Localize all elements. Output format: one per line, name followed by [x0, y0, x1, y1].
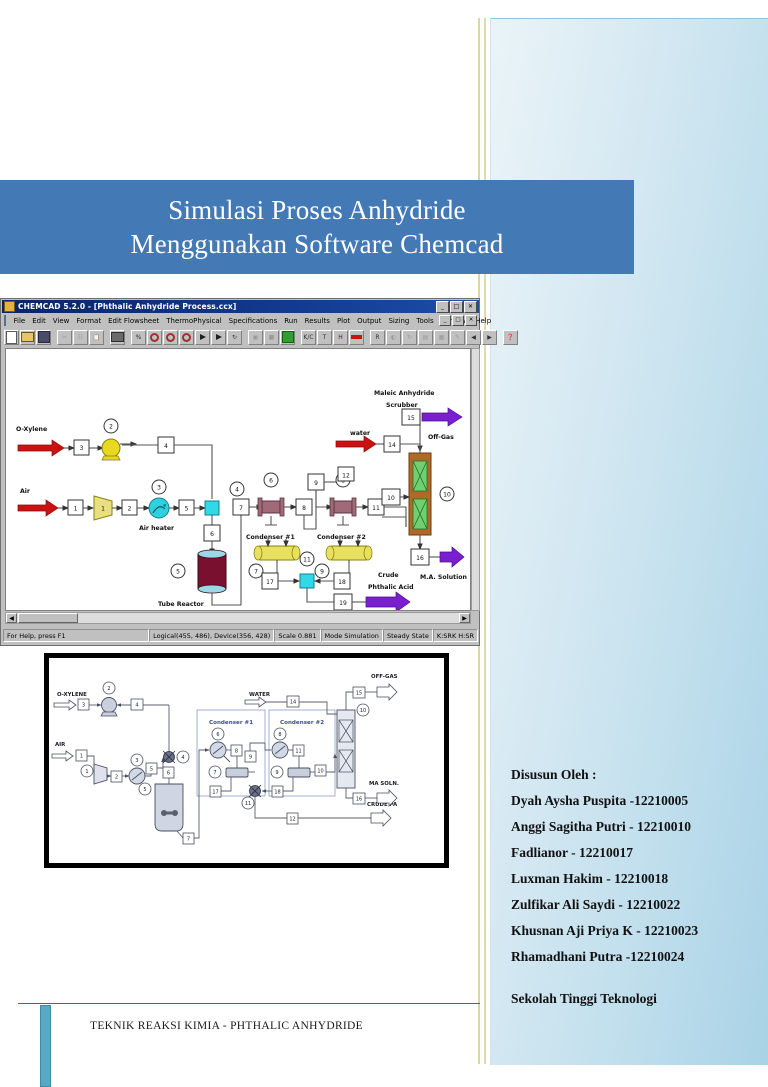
author-name-7: Rhamadhani Putra -12210024 — [511, 944, 761, 970]
mdi-control-buttons[interactable]: _ □ ✕ — [439, 315, 477, 326]
label-block-condenser-1: Condenser #1 — [209, 720, 253, 726]
block-unit-accumulator-9[interactable] — [288, 768, 310, 777]
svg-text:11: 11 — [303, 557, 311, 564]
menu-item-edit[interactable]: Edit — [29, 317, 50, 325]
svg-text:15: 15 — [407, 415, 415, 422]
svg-text:14: 14 — [388, 442, 396, 449]
block-unit-accumulator-7[interactable] — [226, 768, 248, 777]
svg-text:4: 4 — [235, 487, 239, 494]
svg-text:5: 5 — [150, 767, 153, 773]
svg-text:16: 16 — [356, 797, 362, 803]
status-thermo: K:SRK H:SR — [433, 629, 478, 642]
open-file-icon[interactable] — [20, 330, 35, 345]
grid-icon: ▦ — [434, 330, 449, 345]
svg-text:2: 2 — [107, 686, 110, 692]
menu-item-view[interactable]: View — [49, 317, 73, 325]
zoom-percent-icon[interactable]: % — [131, 330, 146, 345]
copy-icon: ☷ — [73, 330, 88, 345]
run-simulation-icon[interactable] — [280, 330, 295, 345]
label-ma-solution: M.A. Solution — [420, 574, 467, 581]
cut-icon: ✂ — [57, 330, 72, 345]
label-crude-1: Crude — [378, 572, 399, 579]
block-unit-reactor-5[interactable] — [155, 784, 183, 831]
product-arrow-crude-phthalic-acid — [366, 592, 410, 611]
report-icon[interactable]: R — [370, 330, 385, 345]
status-state: Steady State — [383, 629, 433, 642]
unit-mixer-11[interactable] — [300, 574, 314, 588]
page-title-banner: Simulasi Proses Anhydride Menggunakan So… — [0, 180, 634, 274]
svg-text:14: 14 — [290, 700, 296, 706]
unit-accumulator-7[interactable] — [254, 546, 300, 560]
block-unit-compressor-1[interactable] — [94, 764, 107, 784]
feed-arrow-air — [18, 500, 58, 516]
feed-arrow-o-xylene — [18, 440, 64, 456]
svg-text:9: 9 — [249, 755, 252, 761]
institution-name: Sekolah Tinggi Teknologi — [511, 986, 761, 1012]
pan-pointer-icon[interactable] — [211, 330, 226, 345]
svg-text:9: 9 — [320, 569, 324, 576]
save-file-icon[interactable] — [36, 330, 51, 345]
footer-divider-line — [18, 1003, 480, 1004]
feed-arrow-water — [336, 436, 376, 452]
svg-text:4: 4 — [181, 755, 184, 761]
svg-text:4: 4 — [164, 443, 168, 450]
menu-item-output[interactable]: Output — [354, 317, 385, 325]
window-titlebar[interactable]: CHEMCAD 5.2.0 - [Phthalic Anhydride Proc… — [2, 300, 479, 313]
paste-icon: 📋 — [89, 330, 104, 345]
block-unit-mixer-11[interactable] — [249, 785, 261, 797]
scroll-right-icon[interactable]: ▶ — [459, 613, 470, 623]
svg-text:6: 6 — [269, 478, 273, 485]
unit-tube-reactor-5[interactable] — [198, 550, 226, 593]
block-unit-pump-2[interactable] — [101, 698, 117, 717]
unit-pump-2[interactable] — [102, 439, 120, 460]
svg-text:7: 7 — [213, 770, 216, 776]
process-block-diagram: .bl{stroke:#5a5f70;stroke-width:0.9;fill… — [44, 653, 449, 868]
svg-text:11: 11 — [372, 505, 380, 512]
block-unit-condenser-8[interactable] — [272, 742, 288, 758]
status-help: For Help, press F1 — [3, 629, 149, 642]
document-icon — [4, 315, 6, 326]
authors-gap — [511, 970, 761, 986]
statusbar: For Help, press F1 Logical(455, 486), De… — [2, 627, 479, 644]
svg-text:3: 3 — [135, 758, 138, 764]
menu-item-thermophysical[interactable]: ThermoPhysical — [163, 317, 225, 325]
table-icon: ▤ — [418, 330, 433, 345]
label-scrubber-2: Scrubber — [386, 402, 419, 409]
vertical-scrollbar[interactable] — [471, 348, 480, 611]
help-cursor-icon[interactable]: ❓ — [503, 330, 518, 345]
svg-text:7: 7 — [187, 837, 190, 843]
label-tube-reactor: Tube Reactor — [158, 601, 205, 608]
unit-accumulator-9[interactable] — [326, 546, 372, 560]
toolbar[interactable]: ✂ ☷ 📋 % ↻ ▣ ■ K/C T H R ◐ ↻ ▤ ▦ ✎ ◀ ▶ ❓ — [2, 328, 479, 346]
authors-heading: Disusun Oleh : — [511, 762, 761, 788]
enthalpy-icon[interactable]: H — [333, 330, 348, 345]
menu-item-format[interactable]: Format — [73, 317, 105, 325]
close-icon[interactable]: ✕ — [464, 301, 477, 313]
footer-text: TEKNIK REAKSI KIMIA - PHTHALIC ANHYDRIDE — [90, 1020, 363, 1032]
svg-text:12: 12 — [342, 473, 350, 480]
svg-text:10: 10 — [387, 495, 395, 502]
status-mode: Mode Simulation — [321, 629, 383, 642]
svg-text:5: 5 — [185, 506, 189, 513]
unit-mixer-4[interactable] — [205, 501, 219, 515]
zoom-in-icon[interactable] — [147, 330, 162, 345]
label-block-condenser-2: Condenser #2 — [280, 720, 324, 726]
decorative-edge-line-inner — [484, 18, 486, 1064]
svg-text:17: 17 — [266, 579, 274, 586]
maximize-icon[interactable]: □ — [450, 301, 463, 313]
print-icon[interactable] — [110, 330, 125, 345]
block-unit-air-heater-3[interactable] — [129, 768, 145, 784]
authors-block: Disusun Oleh : Dyah Aysha Puspita -12210… — [511, 762, 761, 1012]
select-region-icon: ▣ — [248, 330, 263, 345]
group-icon: ■ — [264, 330, 279, 345]
temperature-icon[interactable]: T — [317, 330, 332, 345]
menu-item-tools[interactable]: Tools — [413, 317, 437, 325]
mdi-close-icon[interactable]: ✕ — [465, 315, 477, 326]
page-title-line-1: Simulasi Proses Anhydride — [168, 193, 466, 227]
product-arrow-block-off-gas — [377, 684, 397, 700]
label-air: Air — [20, 488, 31, 495]
svg-text:7: 7 — [239, 505, 243, 512]
product-arrow-ma-solution — [440, 547, 464, 567]
feed-arrow-block-air — [52, 751, 73, 761]
svg-text:2: 2 — [109, 424, 113, 431]
note-icon: ✎ — [450, 330, 465, 345]
flowsheet-canvas[interactable]: .ln{stroke:#555;stroke-width:1.1;fill:no… — [5, 348, 471, 611]
svg-text:19: 19 — [339, 600, 347, 607]
unit-kc-icon[interactable]: K/C — [301, 330, 316, 345]
svg-text:7: 7 — [254, 569, 258, 576]
flowsheet-drawing: .ln{stroke:#555;stroke-width:1.1;fill:no… — [6, 349, 471, 611]
label-crude-2: Phthalic Acid — [368, 584, 414, 591]
unit-scrubber-10[interactable] — [409, 453, 431, 535]
feed-arrow-block-water — [245, 697, 266, 707]
select-pointer-icon[interactable] — [195, 330, 210, 345]
window-title-text: CHEMCAD 5.2.0 - [Phthalic Anhydride Proc… — [18, 302, 236, 311]
author-name-2: Anggi Sagitha Putri - 12210010 — [511, 814, 761, 840]
label-block-water: WATER — [249, 692, 271, 698]
status-scale: Scale 0.881 — [274, 629, 320, 642]
svg-text:17: 17 — [212, 790, 218, 796]
label-condenser-1: Condenser #1 — [246, 534, 295, 541]
svg-text:1: 1 — [74, 506, 78, 513]
author-name-5: Zulfikar Ali Saydi - 12210022 — [511, 892, 761, 918]
menu-item-results[interactable]: Results — [301, 317, 333, 325]
svg-text:18: 18 — [274, 790, 280, 796]
block-unit-condenser-6[interactable] — [210, 742, 230, 762]
menu-item-sizing[interactable]: Sizing — [385, 317, 413, 325]
svg-text:4: 4 — [135, 703, 138, 709]
author-name-3: Fadlianor - 12210017 — [511, 840, 761, 866]
svg-text:5: 5 — [143, 787, 146, 793]
svg-text:8: 8 — [235, 749, 238, 755]
minimize-icon[interactable]: _ — [436, 301, 449, 313]
scroll-left-icon[interactable]: ◀ — [6, 613, 17, 623]
mdi-restore-icon[interactable]: □ — [452, 315, 464, 326]
svg-text:11: 11 — [295, 749, 301, 755]
unit-condenser-2[interactable] — [330, 498, 356, 525]
label-block-off-gas: OFF-GAS — [371, 674, 398, 680]
svg-text:2: 2 — [115, 775, 118, 781]
menubar[interactable]: File Edit View Format Edit Flowsheet The… — [2, 314, 479, 327]
svg-text:3: 3 — [80, 445, 84, 452]
feed-arrow-block-o-xylene — [54, 700, 76, 710]
svg-text:15: 15 — [356, 691, 362, 697]
svg-text:6: 6 — [167, 771, 170, 777]
svg-text:9: 9 — [275, 770, 278, 776]
label-scrubber-1: Maleic Anhydride — [374, 390, 434, 397]
window-control-buttons[interactable]: _ □ ✕ — [436, 301, 477, 313]
stream-arrow-icon[interactable] — [349, 330, 364, 345]
svg-text:10: 10 — [317, 769, 323, 775]
svg-text:10: 10 — [443, 492, 451, 499]
svg-text:3: 3 — [157, 485, 161, 492]
label-water: water — [350, 430, 371, 437]
zoom-out-icon[interactable] — [163, 330, 178, 345]
pie-chart-icon: ◐ — [386, 330, 401, 345]
svg-text:1: 1 — [101, 506, 105, 513]
author-name-6: Khusnan Aji Priya K - 12210023 — [511, 918, 761, 944]
footer-accent-bar — [40, 1005, 51, 1087]
svg-text:1: 1 — [80, 754, 83, 760]
menu-item-specifications[interactable]: Specifications — [225, 317, 281, 325]
svg-text:8: 8 — [302, 505, 306, 512]
label-off-gas: Off-Gas — [428, 434, 454, 441]
svg-text:9: 9 — [314, 480, 318, 487]
menu-item-edit-flowsheet[interactable]: Edit Flowsheet — [105, 317, 163, 325]
new-file-icon[interactable] — [4, 330, 19, 345]
status-coordinates: Logical(455, 486), Device(356, 428) — [149, 629, 274, 642]
author-name-1: Dyah Aysha Puspita -12210005 — [511, 788, 761, 814]
label-block-ma-soln: MA SOLN. — [369, 781, 399, 787]
block-unit-mixer-4[interactable] — [163, 751, 175, 763]
scroll-thumb[interactable] — [18, 613, 78, 623]
svg-text:2: 2 — [128, 506, 132, 513]
svg-text:10: 10 — [360, 708, 366, 714]
next-unit-icon[interactable]: ▶ — [482, 330, 497, 345]
unit-condenser-1[interactable] — [258, 498, 284, 525]
svg-text:5: 5 — [176, 569, 180, 576]
svg-text:6: 6 — [210, 531, 214, 538]
page-title-line-2: Menggunakan Software Chemcad — [131, 227, 504, 261]
label-air-heater: Air heater — [139, 525, 175, 532]
label-o-xylene: O-Xylene — [16, 426, 47, 433]
svg-text:8: 8 — [278, 732, 281, 738]
history-icon: ↻ — [402, 330, 417, 345]
svg-text:3: 3 — [82, 703, 85, 709]
svg-text:1: 1 — [85, 769, 88, 775]
svg-text:12: 12 — [289, 817, 295, 823]
redraw-icon[interactable]: ↻ — [227, 330, 242, 345]
prev-unit-icon[interactable]: ◀ — [466, 330, 481, 345]
svg-text:18: 18 — [338, 579, 346, 586]
chemcad-flask-icon — [4, 301, 15, 312]
svg-text:16: 16 — [416, 555, 424, 562]
unit-air-heater-3[interactable] — [149, 498, 169, 518]
author-name-4: Luxman Hakim - 12210018 — [511, 866, 761, 892]
mdi-minimize-icon[interactable]: _ — [439, 315, 451, 326]
product-arrow-off-gas — [422, 408, 462, 426]
svg-text:11: 11 — [245, 801, 251, 807]
label-block-o-xylene: O-XYLENE — [57, 692, 87, 698]
block-diagram-drawing: .bl{stroke:#5a5f70;stroke-width:0.9;fill… — [49, 658, 444, 863]
horizontal-scrollbar[interactable]: ◀ ▶ — [5, 612, 471, 624]
chemcad-application-window: CHEMCAD 5.2.0 - [Phthalic Anhydride Proc… — [0, 298, 480, 646]
label-block-air: AIR — [55, 742, 66, 748]
svg-text:6: 6 — [216, 732, 219, 738]
menu-item-run[interactable]: Run — [281, 317, 301, 325]
menu-item-file[interactable]: File — [10, 317, 29, 325]
product-arrow-block-crude-pa — [371, 810, 391, 826]
block-unit-scrubber-10[interactable] — [337, 710, 355, 788]
menu-item-plot[interactable]: Plot — [333, 317, 353, 325]
zoom-window-icon[interactable] — [179, 330, 194, 345]
